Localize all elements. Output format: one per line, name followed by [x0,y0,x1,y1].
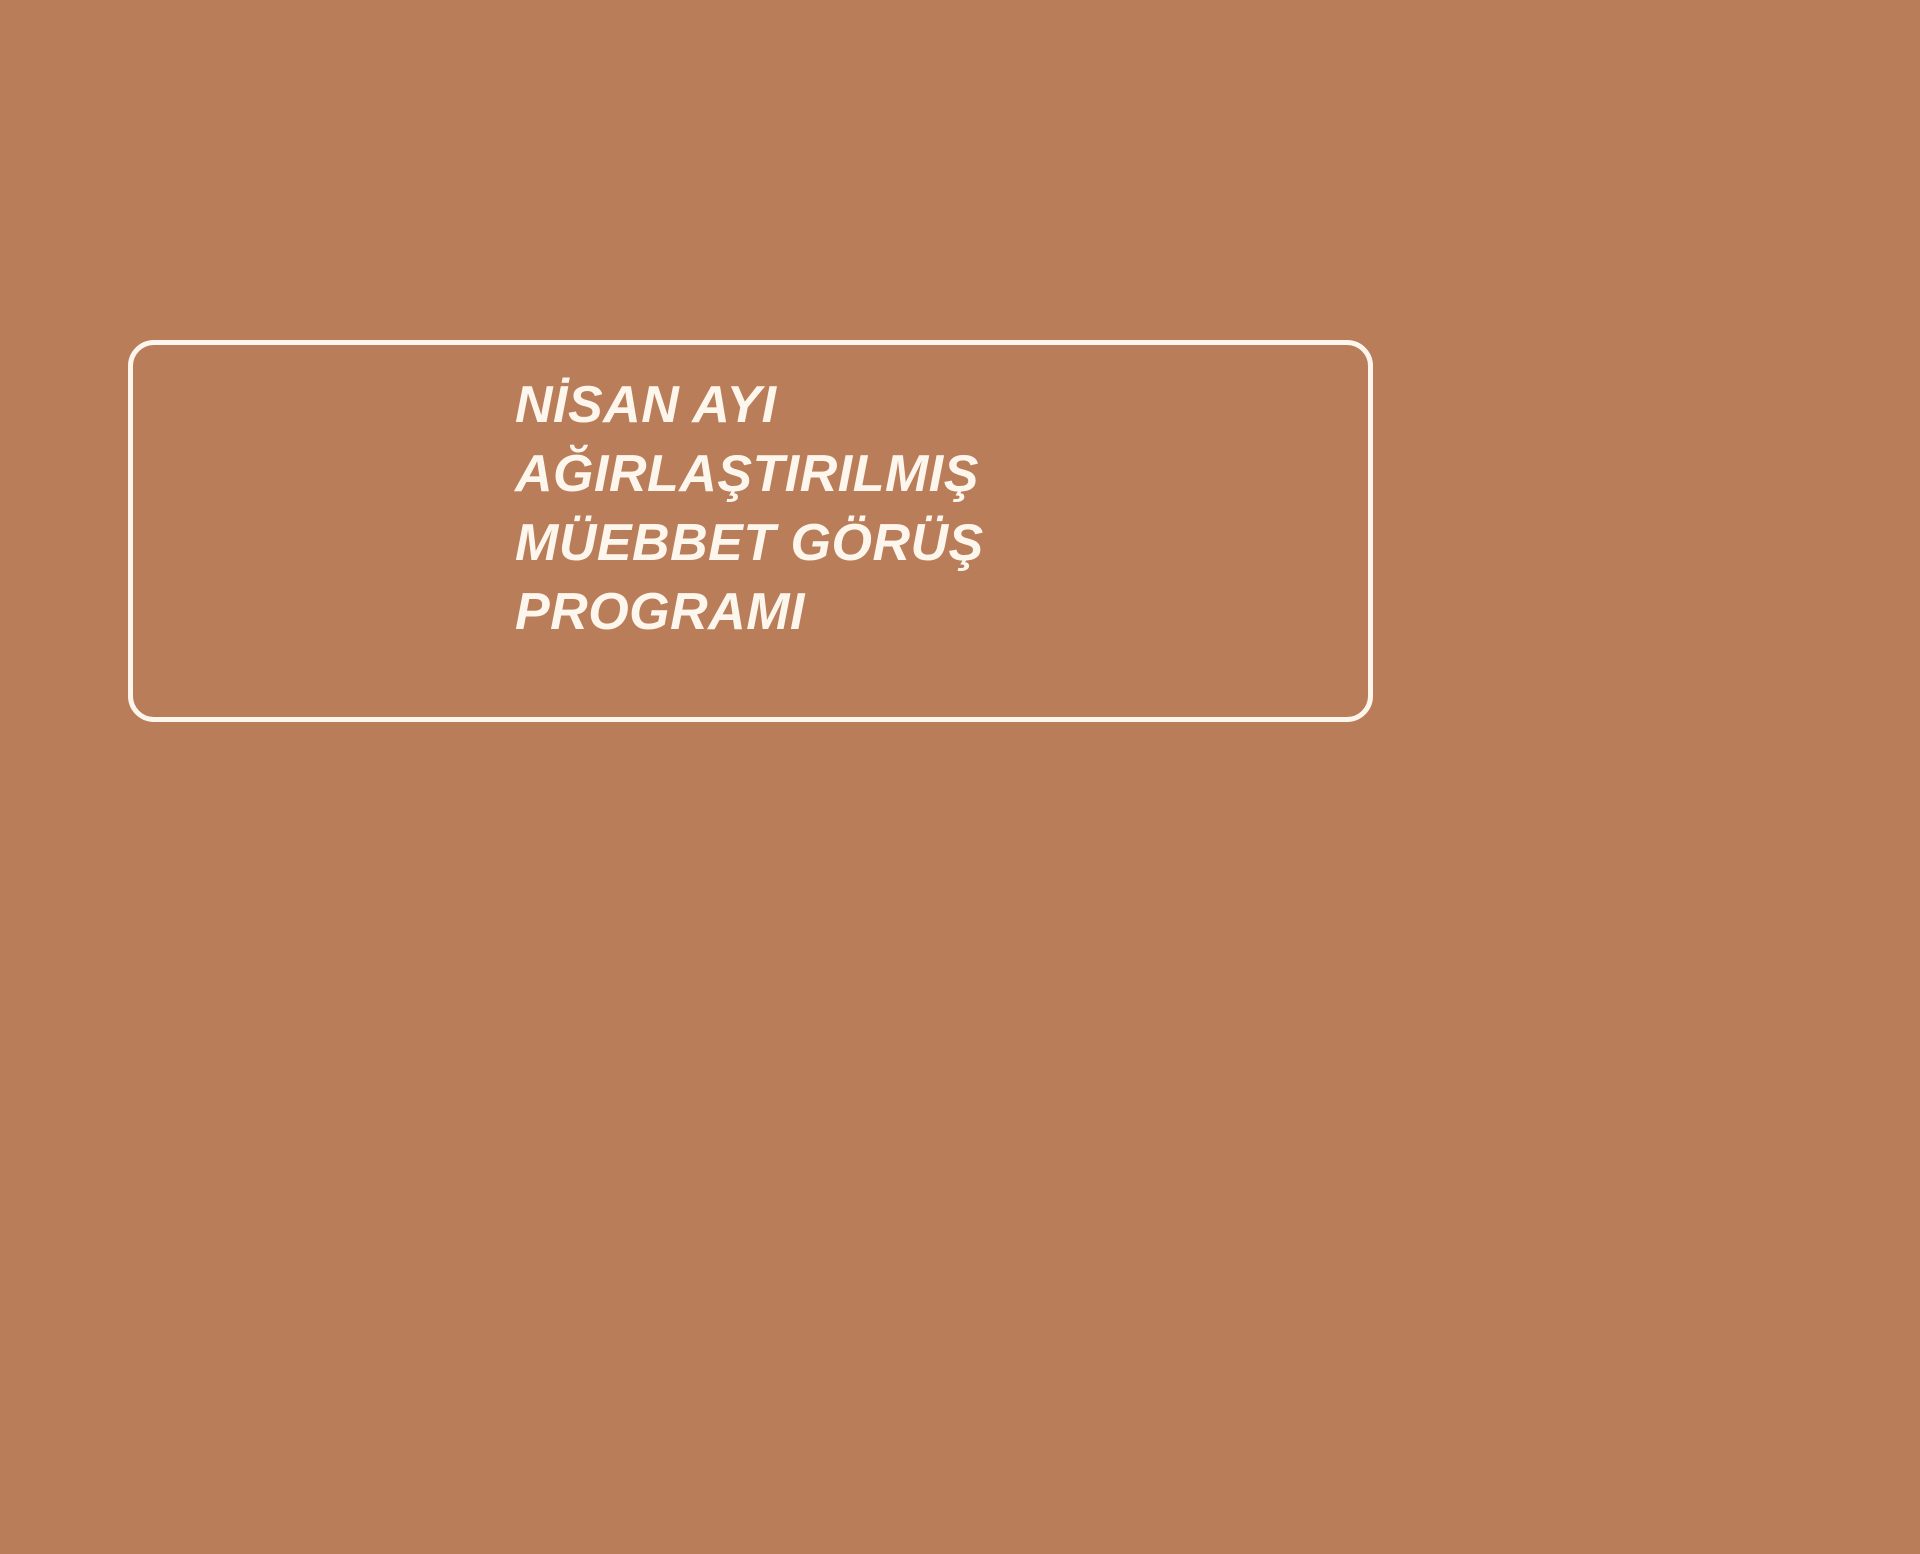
title-frame-box: NİSAN AYI AĞIRLAŞTIRILMIŞ MÜEBBET GÖRÜŞ … [128,340,1373,722]
slide-canvas: NİSAN AYI AĞIRLAŞTIRILMIŞ MÜEBBET GÖRÜŞ … [0,0,1920,1554]
title-text-block: NİSAN AYI AĞIRLAŞTIRILMIŞ MÜEBBET GÖRÜŞ … [515,371,1335,647]
title-line-2: AĞIRLAŞTIRILMIŞ [515,440,1335,509]
title-line-4: PROGRAMI [515,578,1335,647]
title-line-3: MÜEBBET GÖRÜŞ [515,509,1335,578]
title-line-1: NİSAN AYI [515,371,1335,440]
